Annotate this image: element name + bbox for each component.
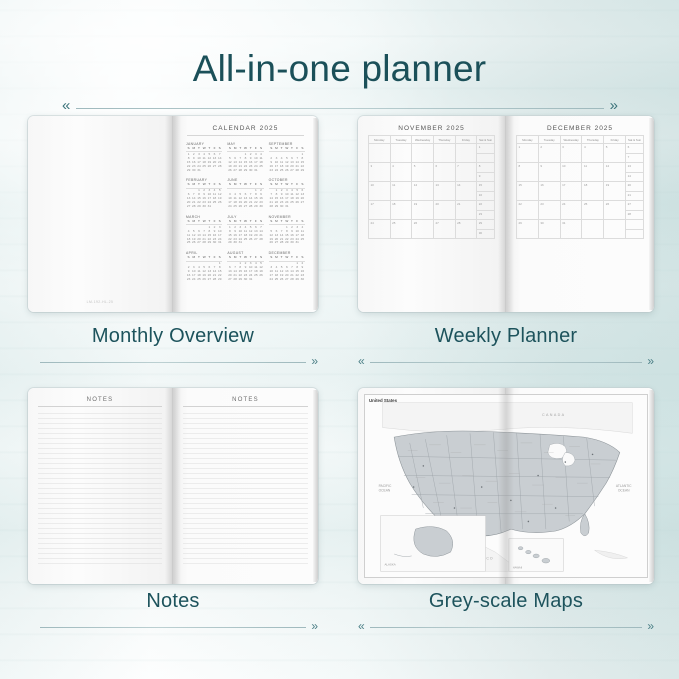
weekend-day[interactable] bbox=[626, 220, 643, 230]
weekend-day[interactable]: 22 bbox=[477, 201, 494, 211]
day-cell[interactable] bbox=[369, 144, 391, 163]
day-cell[interactable]: 29 bbox=[517, 220, 539, 239]
panel-monthly-overview: LM-192-HL-25 CALENDAR 2025 JANUARYSMTWTF… bbox=[28, 116, 318, 312]
mini-calendar: DECEMBERSMTWTFS1234567891011121314151617… bbox=[269, 251, 305, 281]
day-cell[interactable]: 25 bbox=[391, 220, 413, 239]
day-cell[interactable]: 12 bbox=[604, 163, 626, 182]
weekend-day[interactable]: 20 bbox=[626, 182, 643, 192]
weekend-cell[interactable]: 2223 bbox=[477, 201, 495, 220]
day-cell[interactable]: 3 bbox=[561, 144, 583, 163]
page-edge-shadow bbox=[649, 118, 654, 310]
mini-calendar-week-row: 23242526272829 bbox=[186, 278, 222, 282]
month-week-row: 24252627282930 bbox=[369, 220, 495, 239]
day-cell[interactable]: 10 bbox=[369, 182, 391, 201]
svg-text:CANADA: CANADA bbox=[542, 413, 566, 417]
page-edge-shadow bbox=[649, 390, 654, 582]
weekend-day[interactable] bbox=[626, 230, 643, 239]
day-cell[interactable]: 30 bbox=[539, 220, 561, 239]
day-cell[interactable]: 8 bbox=[517, 163, 539, 182]
day-cell[interactable]: 4 bbox=[391, 163, 413, 182]
day-cell[interactable] bbox=[434, 144, 456, 163]
mini-calendar: JUNESMTWTFS12345678910111213141516171819… bbox=[227, 178, 263, 208]
day-cell[interactable]: 26 bbox=[604, 201, 626, 220]
calendar-page-left: LM-192-HL-25 bbox=[28, 116, 173, 312]
day-column-header: Thursday bbox=[434, 136, 456, 144]
mini-calendar: SEPTEMBERSMTWTFS123456789101112131415161… bbox=[269, 142, 305, 172]
mini-calendar: MAYSMTWTFS123456789101112131415161718192… bbox=[227, 142, 263, 172]
divider-notes: » bbox=[28, 620, 318, 634]
weekend-cell[interactable]: 2930 bbox=[477, 220, 495, 239]
chevron-left-icon: « bbox=[358, 619, 365, 633]
weekend-day[interactable]: 9 bbox=[477, 173, 494, 182]
day-cell[interactable]: 11 bbox=[391, 182, 413, 201]
day-cell[interactable]: 13 bbox=[434, 182, 456, 201]
day-column-header: Wednesday bbox=[561, 136, 583, 144]
chevron-right-icon: » bbox=[311, 619, 318, 633]
day-cell[interactable]: 21 bbox=[456, 201, 478, 220]
mini-calendar-week-row: 24252627282930 bbox=[227, 205, 263, 209]
month-week-row: 1234567 bbox=[517, 144, 644, 163]
mini-calendar-grid: JANUARYSMTWTFS12345678910111213141516171… bbox=[183, 142, 308, 282]
svg-text:PACIFIC: PACIFIC bbox=[379, 484, 392, 488]
day-cell[interactable]: 1 bbox=[517, 144, 539, 163]
svg-text:ALASKA: ALASKA bbox=[384, 563, 395, 567]
month-week-row: 1 bbox=[369, 144, 495, 163]
month-grid-november: MondayTuesdayWednesdayThursdayFridaySat … bbox=[368, 135, 495, 239]
day-cell[interactable]: 4 bbox=[582, 144, 604, 163]
page-edge-shadow bbox=[313, 390, 318, 582]
day-column-header: Tuesday bbox=[539, 136, 561, 144]
day-cell[interactable] bbox=[582, 220, 604, 239]
day-cell[interactable]: 20 bbox=[434, 201, 456, 220]
weekend-day[interactable]: 23 bbox=[477, 211, 494, 220]
month-week-row: 3456789 bbox=[369, 163, 495, 182]
day-cell[interactable]: 2 bbox=[539, 144, 561, 163]
mini-calendar-dow-row: SMTWTFS bbox=[186, 256, 222, 261]
us-map-graphic: PACIFIC OCEAN ATLANTIC OCEAN CANADA MEXI… bbox=[365, 395, 647, 577]
month-header-row: MondayTuesdayWednesdayThursdayFridaySat … bbox=[369, 136, 495, 144]
month-week-row: 15161718192021 bbox=[517, 182, 644, 201]
map-frame: United States bbox=[364, 394, 648, 578]
weekend-day[interactable]: 16 bbox=[477, 192, 494, 201]
divider-line bbox=[76, 108, 604, 109]
caption-weekly-planner: Weekly Planner bbox=[358, 325, 654, 348]
notes-page-right: NOTES bbox=[173, 388, 318, 584]
day-cell[interactable]: 5 bbox=[604, 144, 626, 163]
day-cell[interactable] bbox=[412, 144, 434, 163]
notebook-photo-notes: NOTES NOTES bbox=[28, 388, 318, 584]
weekend-cell[interactable]: 89 bbox=[477, 163, 495, 182]
day-cell[interactable] bbox=[604, 220, 626, 239]
day-column-header: Thursday bbox=[582, 136, 604, 144]
day-cell[interactable]: 18 bbox=[391, 201, 413, 220]
day-cell[interactable]: 27 bbox=[434, 220, 456, 239]
day-cell[interactable]: 10 bbox=[561, 163, 583, 182]
caption-notes: Notes bbox=[28, 590, 318, 613]
weekly-page-right: DECEMBER 2025 MondayTuesdayWednesdayThur… bbox=[506, 116, 654, 312]
notebook-photo-weekly: NOVEMBER 2025 MondayTuesdayWednesdayThur… bbox=[358, 116, 654, 312]
month-title-december: DECEMBER 2025 bbox=[516, 125, 644, 132]
panel-grey-scale-maps: United States bbox=[358, 388, 654, 584]
mini-calendar-week-row: 293031 bbox=[227, 241, 263, 245]
divider-monthly-overview: » bbox=[28, 355, 318, 369]
day-cell[interactable]: 11 bbox=[582, 163, 604, 182]
weekend-day[interactable] bbox=[477, 154, 494, 163]
weekend-day[interactable]: 29 bbox=[477, 220, 494, 230]
mini-calendar-dow-row: SMTWTFS bbox=[269, 147, 305, 152]
day-cell[interactable]: 16 bbox=[539, 182, 561, 201]
calendar-rule bbox=[187, 135, 304, 136]
weekend-cell[interactable]: 1 bbox=[477, 144, 495, 163]
day-cell[interactable]: 23 bbox=[539, 201, 561, 220]
mini-calendar: APRILSMTWTFS1234567891011121314151617181… bbox=[186, 251, 222, 281]
month-week-row: 10111213141516 bbox=[369, 182, 495, 201]
day-cell[interactable]: 17 bbox=[369, 201, 391, 220]
month-week-row: 293031 bbox=[517, 220, 644, 239]
month-header-row: MondayTuesdayWednesdayThursdayFridaySat … bbox=[517, 136, 644, 144]
month-week-row: 22232425262728 bbox=[517, 201, 644, 220]
month-week-row: 891011121314 bbox=[517, 163, 644, 182]
mini-calendar: NOVEMBERSMTWTFS1234567891011121314151617… bbox=[269, 215, 305, 245]
chevron-right-icon: » bbox=[610, 98, 618, 114]
mini-calendar: AUGUSTSMTWTFS123456789101112131415161718… bbox=[227, 251, 263, 281]
divider-grey-scale-maps: « » bbox=[358, 620, 654, 634]
day-cell[interactable]: 12 bbox=[412, 182, 434, 201]
day-cell[interactable]: 15 bbox=[517, 182, 539, 201]
day-cell[interactable]: 5 bbox=[412, 163, 434, 182]
weekend-day[interactable]: 30 bbox=[477, 230, 494, 239]
caption-monthly-overview: Monthly Overview bbox=[28, 325, 318, 348]
caption-grey-scale-maps: Grey-scale Maps bbox=[358, 590, 654, 613]
day-cell[interactable]: 24 bbox=[561, 201, 583, 220]
svg-text:OCEAN: OCEAN bbox=[379, 489, 391, 493]
divider-line bbox=[40, 362, 306, 363]
notes-ruled-lines bbox=[183, 409, 308, 567]
panel-weekly-planner: NOVEMBER 2025 MondayTuesdayWednesdayThur… bbox=[358, 116, 654, 312]
weekend-day[interactable]: 13 bbox=[626, 163, 643, 173]
weekly-page-left: NOVEMBER 2025 MondayTuesdayWednesdayThur… bbox=[358, 116, 506, 312]
day-cell[interactable]: 3 bbox=[369, 163, 391, 182]
map-title: United States bbox=[369, 398, 397, 403]
weekend-cell[interactable]: 2021 bbox=[626, 182, 644, 201]
weekend-cell[interactable]: 1516 bbox=[477, 182, 495, 201]
chevron-right-icon: » bbox=[647, 619, 654, 633]
headline-divider: « » bbox=[62, 100, 618, 116]
panel-notes: NOTES NOTES bbox=[28, 388, 318, 584]
weekend-cell[interactable]: 67 bbox=[626, 144, 644, 163]
mini-calendar: FEBRUARYSMTWTFS1234567891011121314151617… bbox=[186, 178, 222, 208]
notes-ruled-lines bbox=[38, 409, 162, 567]
weekend-day[interactable]: 14 bbox=[626, 173, 643, 182]
notebook-photo-calendar: LM-192-HL-25 CALENDAR 2025 JANUARYSMTWTF… bbox=[28, 116, 318, 312]
day-cell[interactable]: 25 bbox=[582, 201, 604, 220]
divider-line bbox=[40, 627, 306, 628]
day-cell[interactable]: 14 bbox=[456, 182, 478, 201]
day-column-header: Monday bbox=[369, 136, 391, 144]
svg-text:HAWAII: HAWAII bbox=[513, 565, 523, 569]
mini-calendar-dow-row: SMTWTFS bbox=[269, 256, 305, 261]
mini-calendar: OCTOBERSMTWTFS12345678910111213141516171… bbox=[269, 178, 305, 208]
day-cell[interactable]: 7 bbox=[456, 163, 478, 182]
day-cell[interactable] bbox=[456, 144, 478, 163]
mini-calendar-dow-row: SMTWTFS bbox=[186, 220, 222, 225]
day-column-header: Sat & Sun bbox=[477, 136, 495, 144]
calendar-page-right: CALENDAR 2025 JANUARYSMTWTFS123456789101… bbox=[173, 116, 318, 312]
calendar-title: CALENDAR 2025 bbox=[183, 125, 308, 135]
notes-page-left: NOTES bbox=[28, 388, 173, 584]
weekend-cell[interactable]: 2728 bbox=[626, 201, 644, 220]
notes-rule bbox=[183, 406, 308, 407]
day-column-header: Sat & Sun bbox=[626, 136, 644, 144]
day-column-header: Wednesday bbox=[412, 136, 434, 144]
weekend-day[interactable]: 28 bbox=[626, 211, 643, 220]
notes-rule bbox=[38, 406, 162, 407]
mini-calendar-week-row: 25262728293031 bbox=[186, 241, 222, 245]
day-cell[interactable]: 26 bbox=[412, 220, 434, 239]
month-title-november: NOVEMBER 2025 bbox=[368, 125, 495, 132]
mini-calendar-week-row: 24252627282930 bbox=[269, 278, 305, 282]
mini-calendar-week-row: 23242526272829 bbox=[269, 169, 305, 173]
weekend-day[interactable]: 1 bbox=[477, 144, 494, 154]
divider-weekly-planner: « » bbox=[358, 355, 654, 369]
svg-text:ATLANTIC: ATLANTIC bbox=[616, 484, 632, 488]
mini-calendar-week-row: 2728293031 bbox=[186, 205, 222, 209]
notes-title-right: NOTES bbox=[183, 397, 308, 403]
day-cell[interactable]: 17 bbox=[561, 182, 583, 201]
chevron-right-icon: » bbox=[647, 354, 654, 368]
product-code: LM-192-HL-25 bbox=[28, 300, 172, 304]
mini-calendar-week-row: 262728293031 bbox=[269, 241, 305, 245]
month-grid-december: MondayTuesdayWednesdayThursdayFridaySat … bbox=[516, 135, 644, 239]
chevron-left-icon: « bbox=[62, 98, 70, 114]
mini-calendar-dow-row: SMTWTFS bbox=[227, 183, 263, 188]
weekend-cell[interactable]: 1314 bbox=[626, 163, 644, 182]
day-cell[interactable]: 18 bbox=[582, 182, 604, 201]
weekend-day[interactable]: 6 bbox=[626, 144, 643, 154]
day-cell[interactable] bbox=[391, 144, 413, 163]
month-week-row: 17181920212223 bbox=[369, 201, 495, 220]
chevron-left-icon: « bbox=[358, 354, 365, 368]
day-cell[interactable]: 24 bbox=[369, 220, 391, 239]
day-column-header: Friday bbox=[456, 136, 478, 144]
mini-calendar: MARCHSMTWTFS1234567891011121314151617181… bbox=[186, 215, 222, 245]
notes-title-left: NOTES bbox=[38, 397, 162, 403]
day-cell[interactable]: 6 bbox=[434, 163, 456, 182]
page-edge-shadow bbox=[313, 118, 318, 310]
mini-calendar-week-row: 293031 bbox=[186, 169, 222, 173]
weekend-cell[interactable] bbox=[626, 220, 644, 239]
notebook-photo-map: United States bbox=[358, 388, 654, 584]
day-cell[interactable]: 9 bbox=[539, 163, 561, 182]
page-title: All-in-one planner bbox=[0, 48, 679, 90]
day-cell[interactable]: 19 bbox=[604, 182, 626, 201]
weekend-day[interactable]: 27 bbox=[626, 201, 643, 211]
day-cell[interactable]: 28 bbox=[456, 220, 478, 239]
day-cell[interactable]: 31 bbox=[561, 220, 583, 239]
mini-calendar: JANUARYSMTWTFS12345678910111213141516171… bbox=[186, 142, 222, 172]
day-cell[interactable]: 19 bbox=[412, 201, 434, 220]
day-cell[interactable]: 22 bbox=[517, 201, 539, 220]
day-column-header: Monday bbox=[517, 136, 539, 144]
divider-line bbox=[370, 362, 642, 363]
mini-calendar-week-row: 2728293031 bbox=[227, 278, 263, 282]
chevron-right-icon: » bbox=[311, 354, 318, 368]
svg-text:OCEAN: OCEAN bbox=[618, 489, 630, 493]
mini-calendar: JULYSMTWTFS12345678910111213141516171819… bbox=[227, 215, 263, 245]
divider-line bbox=[370, 627, 642, 628]
mini-calendar-week-row: 28293031 bbox=[269, 205, 305, 209]
weekend-day[interactable]: 7 bbox=[626, 154, 643, 163]
day-column-header: Friday bbox=[604, 136, 626, 144]
weekend-day[interactable]: 15 bbox=[477, 182, 494, 192]
day-column-header: Tuesday bbox=[391, 136, 413, 144]
mini-calendar-week-row: 262728293031 bbox=[227, 169, 263, 173]
weekend-day[interactable]: 8 bbox=[477, 163, 494, 173]
weekend-day[interactable]: 21 bbox=[626, 192, 643, 201]
